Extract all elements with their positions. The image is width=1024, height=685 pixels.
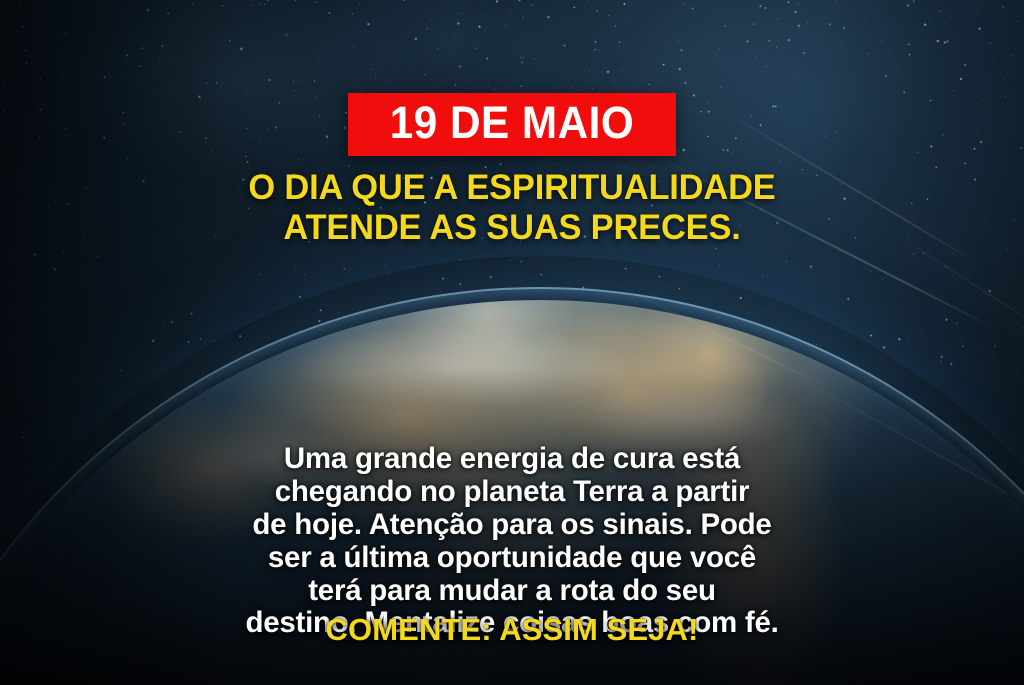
call-to-action-text: COMENTE: ASSIM SEJA! [0, 614, 1024, 645]
headline: O DIA QUE A ESPIRITUALIDADE ATENDE AS SU… [8, 168, 1017, 248]
poster-canvas: 19 DE MAIO O DIA QUE A ESPIRITUALIDADE A… [0, 0, 1024, 685]
body-line: ser a última oportunidade que você [46, 542, 978, 575]
poster-content: 19 DE MAIO O DIA QUE A ESPIRITUALIDADE A… [0, 0, 1024, 685]
body-line: terá para mudar a rota do seu [46, 575, 978, 608]
body-line: Uma grande energia de cura está [46, 443, 978, 476]
date-banner: 19 DE MAIO [348, 93, 676, 156]
date-banner-label: 19 DE MAIO [390, 100, 634, 145]
body-line: chegando no planeta Terra a partir [46, 476, 978, 509]
headline-line: ATENDE AS SUAS PRECES. [61, 208, 963, 248]
headline-line: O DIA QUE A ESPIRITUALIDADE [61, 168, 963, 208]
body-paragraph: Uma grande energia de cura está chegando… [0, 443, 1024, 640]
body-line: de hoje. Atenção para os sinais. Pode [46, 509, 978, 542]
